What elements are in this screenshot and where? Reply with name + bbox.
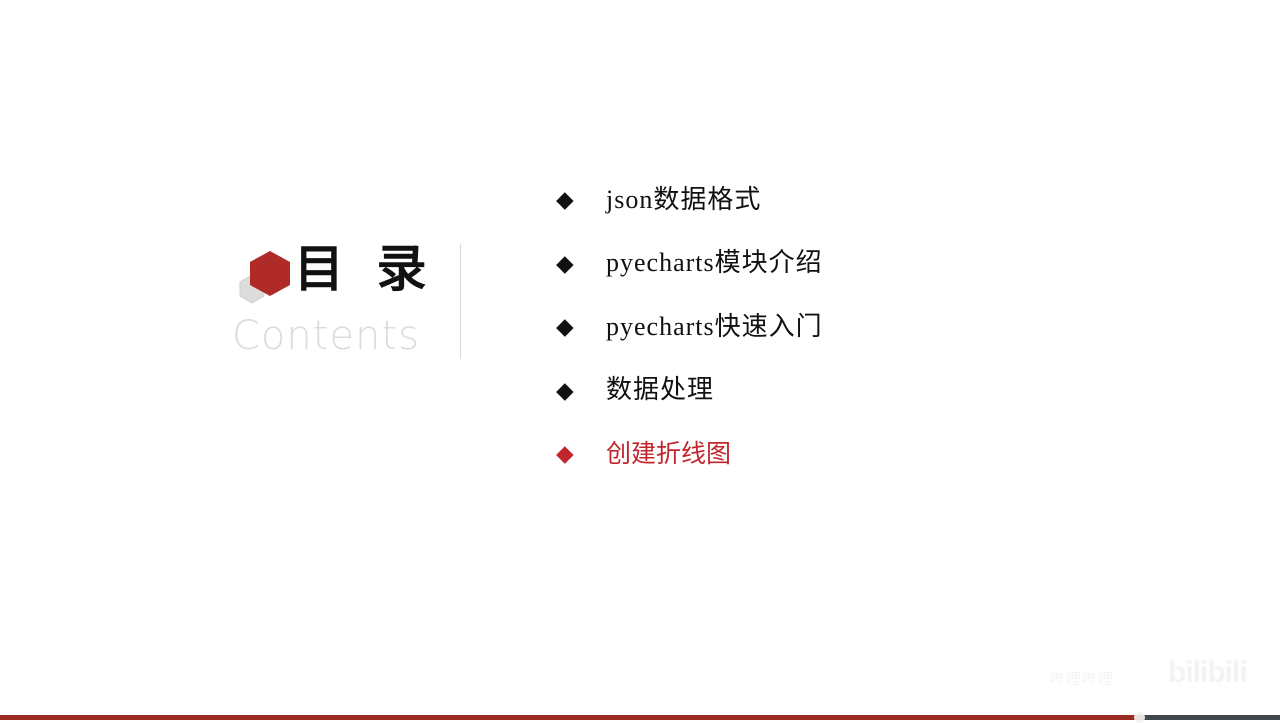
toc-item-label: json数据格式 (586, 185, 1176, 215)
toc-item-label: 数据处理 (586, 375, 1176, 405)
page-title-en: Contents (232, 310, 420, 362)
diamond-bullet-icon: ◆ (556, 252, 586, 275)
watermark: 哔哩哔哩 bilibili (1040, 652, 1270, 698)
video-progress-track[interactable] (0, 715, 1280, 720)
page-title-cn: 目 录 (294, 238, 437, 300)
hexagon-cube-mark-icon (232, 248, 294, 310)
toc-item-4[interactable]: ◆ 创建折线图 (556, 422, 1176, 486)
diamond-bullet-icon: ◆ (556, 315, 586, 338)
toc-item-label: pyecharts快速入门 (586, 312, 1176, 342)
toc-item-3[interactable]: ◆ 数据处理 (556, 359, 1176, 423)
vertical-divider (460, 244, 461, 359)
video-progress-handle[interactable] (1134, 712, 1145, 723)
watermark-subtext: 哔哩哔哩 (1050, 668, 1114, 689)
slide-canvas: 目 录 Contents ◆ json数据格式 ◆ pyecharts模块介绍 … (0, 0, 1280, 720)
video-progress-played (0, 715, 1140, 720)
bilibili-logo-watermark: bilibili (1168, 656, 1247, 690)
toc-list: ◆ json数据格式 ◆ pyecharts模块介绍 ◆ pyecharts快速… (556, 168, 1176, 486)
section-title-block: 目 录 Contents (228, 238, 448, 368)
diamond-bullet-icon: ◆ (556, 379, 586, 402)
diamond-bullet-icon: ◆ (556, 188, 586, 211)
diamond-bullet-icon: ◆ (556, 442, 586, 465)
toc-item-1[interactable]: ◆ pyecharts模块介绍 (556, 232, 1176, 296)
toc-item-2[interactable]: ◆ pyecharts快速入门 (556, 295, 1176, 359)
toc-item-label: pyecharts模块介绍 (586, 248, 1176, 278)
toc-item-label: 创建折线图 (586, 439, 1176, 469)
toc-item-0[interactable]: ◆ json数据格式 (556, 168, 1176, 232)
